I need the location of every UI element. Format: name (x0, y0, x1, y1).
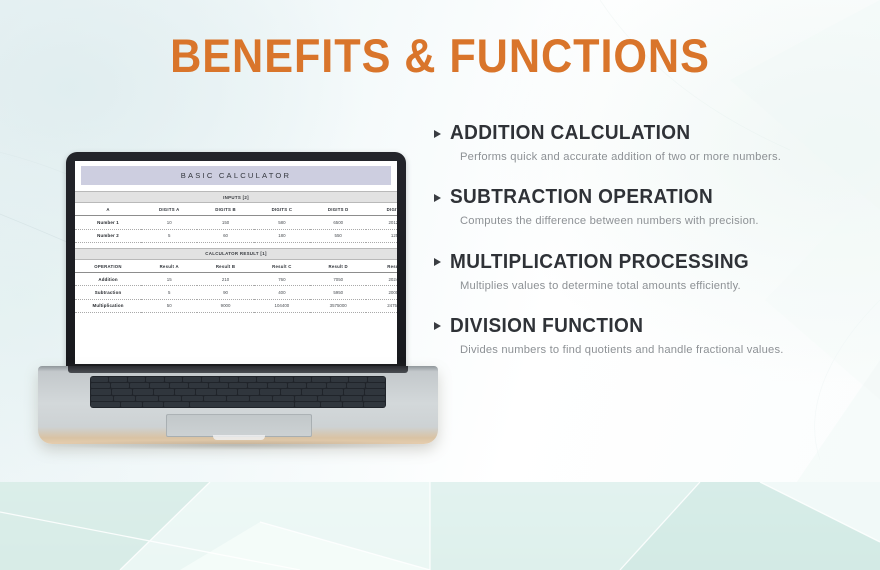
spreadsheet: BASIC CALCULATOR INPUTS [2] A DIGITS A D… (75, 161, 397, 364)
laptop-keyboard (90, 376, 386, 408)
feature-item-addition: ADDITION CALCULATION Performs quick and … (434, 122, 854, 164)
inputs-cell: 580 (254, 216, 310, 229)
inputs-header-cell: DIGITS D (310, 203, 366, 216)
inputs-header-row: A DIGITS A DIGITS B DIGITS C DIGITS D DI… (75, 203, 397, 216)
inputs-cell: 60 (197, 229, 253, 242)
feature-item-subtraction: SUBTRACTION OPERATION Computes the diffe… (434, 186, 854, 228)
laptop-mockup: BASIC CALCULATOR INPUTS [2] A DIGITS A D… (38, 152, 438, 452)
results-cell: Multiplication (75, 299, 141, 312)
results-cell: 7050 (310, 273, 366, 286)
results-header-cell: Result (366, 260, 397, 273)
inputs-header-cell: DIGITS B (197, 203, 253, 216)
results-cell: 210 (197, 273, 253, 286)
feature-heading: MULTIPLICATION PROCESSING (434, 251, 854, 274)
results-cell: 5950 (310, 286, 366, 299)
results-cell: Addition (75, 273, 141, 286)
results-cell: 20000 (366, 286, 397, 299)
results-header-row: OPERATION Result A Result B Result C Res… (75, 260, 397, 273)
results-cell: 15 (141, 273, 197, 286)
feature-title: DIVISION FUNCTION (450, 315, 643, 338)
triangle-right-icon (434, 194, 441, 202)
spreadsheet-title: BASIC CALCULATOR (81, 166, 391, 185)
results-header-cell: Result A (141, 260, 197, 273)
results-cell: 9000 (197, 299, 253, 312)
results-cell: 5 (141, 286, 197, 299)
feature-list: ADDITION CALCULATION Performs quick and … (434, 122, 854, 379)
results-cell: 20248 (366, 273, 397, 286)
inputs-cell: 20123 (366, 216, 397, 229)
inputs-header-cell: A (75, 203, 141, 216)
results-band: CALCULATOR RESULT [1] (75, 248, 397, 260)
inputs-header-cell: DIGITS C (254, 203, 310, 216)
keyboard-row (91, 389, 385, 394)
inputs-band: INPUTS [2] (75, 191, 397, 203)
laptop-screen: BASIC CALCULATOR INPUTS [2] A DIGITS A D… (75, 161, 397, 364)
feature-heading: SUBTRACTION OPERATION (434, 186, 854, 209)
inputs-cell: 550 (310, 229, 366, 242)
inputs-cell: 10 (141, 216, 197, 229)
laptop-base (38, 366, 438, 444)
inputs-header-cell: DIGITS A (141, 203, 197, 216)
table-row: Multiplication 50 9000 104400 3575000 24… (75, 299, 397, 312)
triangle-right-icon (434, 130, 441, 138)
feature-heading: ADDITION CALCULATION (434, 122, 854, 145)
feature-title: ADDITION CALCULATION (450, 122, 690, 145)
keyboard-row (91, 402, 385, 407)
inputs-cell: 6500 (310, 216, 366, 229)
results-cell: 760 (254, 273, 310, 286)
results-cell: 50 (141, 299, 197, 312)
laptop-shadow (44, 440, 432, 450)
feature-item-division: DIVISION FUNCTION Divides numbers to fin… (434, 315, 854, 357)
feature-title: MULTIPLICATION PROCESSING (450, 251, 749, 274)
inputs-cell: 180 (254, 229, 310, 242)
feature-description: Performs quick and accurate addition of … (460, 150, 790, 164)
results-cell: 3575000 (310, 299, 366, 312)
table-row: Addition 15 210 760 7050 20248 (75, 273, 397, 286)
keyboard-row (91, 377, 385, 382)
inputs-cell: 125 (366, 229, 397, 242)
results-table: OPERATION Result A Result B Result C Res… (75, 260, 397, 313)
background-bottom-geometric (0, 482, 880, 570)
feature-heading: DIVISION FUNCTION (434, 315, 854, 338)
inputs-header-cell: DIGITS (366, 203, 397, 216)
results-cell: 90 (197, 286, 253, 299)
results-header-cell: OPERATION (75, 260, 141, 273)
inputs-table: A DIGITS A DIGITS B DIGITS C DIGITS D DI… (75, 203, 397, 243)
triangle-right-icon (434, 258, 441, 266)
results-cell: 247502 (366, 299, 397, 312)
inputs-cell: Number 2 (75, 229, 141, 242)
feature-description: Multiplies values to determine total amo… (460, 279, 790, 293)
results-cell: 104400 (254, 299, 310, 312)
inputs-cell: 150 (197, 216, 253, 229)
table-row: Subtraction 5 90 400 5950 20000 (75, 286, 397, 299)
results-header-cell: Result D (310, 260, 366, 273)
table-row: Number 2 5 60 180 550 125 (75, 229, 397, 242)
results-header-cell: Result B (197, 260, 253, 273)
keyboard-row (91, 396, 385, 401)
inputs-cell: 5 (141, 229, 197, 242)
inputs-cell: Number 1 (75, 216, 141, 229)
laptop-trackpad (166, 414, 312, 437)
keyboard-row (91, 383, 385, 388)
results-header-cell: Result C (254, 260, 310, 273)
geometric-facets (0, 482, 880, 570)
feature-description: Computes the difference between numbers … (460, 214, 790, 228)
triangle-right-icon (434, 322, 441, 330)
feature-title: SUBTRACTION OPERATION (450, 186, 713, 209)
results-cell: 400 (254, 286, 310, 299)
laptop-hinge (68, 366, 408, 373)
table-row: Number 1 10 150 580 6500 20123 (75, 216, 397, 229)
page-title: BENEFITS & FUNCTIONS (35, 28, 845, 83)
feature-item-multiplication: MULTIPLICATION PROCESSING Multiplies val… (434, 251, 854, 293)
results-cell: Subtraction (75, 286, 141, 299)
feature-description: Divides numbers to find quotients and ha… (460, 343, 790, 357)
laptop-lid: BASIC CALCULATOR INPUTS [2] A DIGITS A D… (66, 152, 406, 370)
